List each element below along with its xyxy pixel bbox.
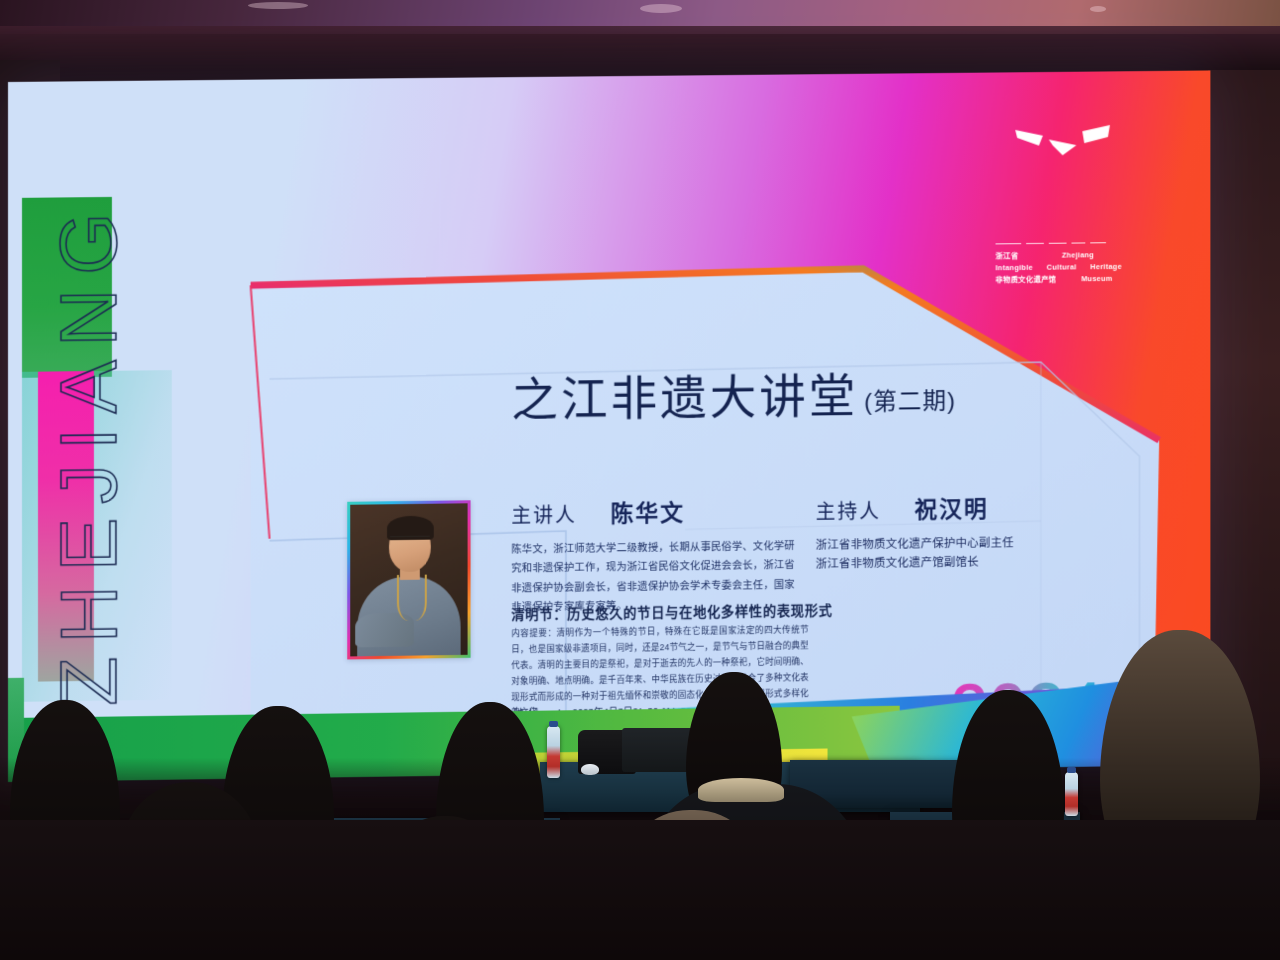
jacket-collar [698,778,784,802]
band-yellow [515,748,827,774]
logo-line1-cn: 浙江省 [996,250,1054,263]
speaker-portrait [347,500,470,659]
logo-intangible: Intangible [996,262,1041,274]
museum-logo: 浙江省 Zhejiang Intangible Cultural Heritag… [996,123,1130,286]
ceiling-light-2 [1090,6,1106,12]
jacket-graphic: Aioteius ACHIEVEN AND ROKATI EOPKIT AND … [640,840,870,886]
speaker-role-label: 主讲人 [511,499,577,529]
backpack-brand-text: CAMEL [149,923,181,930]
jacket-body [640,784,868,960]
host-name: 祝汉明 [915,490,989,525]
person-hair [122,782,258,892]
bag-strap-1 [0,870,45,960]
ceiling-light-3 [248,2,308,9]
host-title-2: 浙江省非物质文化遗产馆副馆长 [816,553,1014,574]
jacket-tiny-text: Berloghfhlekntebjkklsmq sne jc ni flqm h… [640,881,870,886]
lecture-topic: 清明节：历史悠久的节日与在地化多样性的表现形式 [511,599,832,623]
logo-heritage: Heritage [1090,261,1129,273]
vertical-zhejiang-text: ZHEJIANG [49,236,129,707]
speaker-info: 主讲人 陈华文 陈华文，浙江师范大学二级教授，长期从事民俗学、文化学研究和非遗保… [511,492,804,617]
audience-person-8 [870,840,1090,960]
person-hair [384,816,506,920]
backpack-body [72,856,322,960]
zhejiang-museum-logo-mark-icon [1013,123,1112,160]
wall-right [1208,70,1280,810]
audience-person-backpack: 🐫 CAMEL [80,782,330,960]
person-shoulders [1070,840,1280,960]
jacket-sub-line1: ACHIEVEN AND ROKATI [640,863,870,871]
backpack-logo: 🐫 CAMEL [40,910,290,930]
logo-line3-en: Museum [1081,273,1129,285]
logo-line1-en: Zhejiang [1062,249,1130,262]
audience-desk-row-2 [890,812,1080,838]
person-shoulders [0,850,168,960]
person-hair [910,840,1040,936]
speaker-heading: 主讲人 陈华文 [511,492,804,530]
bag-strap-2 [30,871,83,960]
water-bottle-right [1065,772,1078,816]
host-heading: 主持人 祝汉明 [816,490,1014,526]
jacket-script-text: Aioteius [640,840,870,860]
projection-screen: ZHEJIANG 浙江省 Zhejiang Intangible Cultu [8,70,1210,782]
audience-person-5 [330,816,560,960]
person-shoulders [188,856,378,960]
logo-rule-lines [996,242,1130,244]
logo-cultural: Cultural [1047,261,1085,273]
logo-line3-cn: 非物质文化遗产馆 [996,273,1074,286]
person-hair [622,810,762,922]
presentation-slide: ZHEJIANG 浙江省 Zhejiang Intangible Cultu [8,70,1210,782]
audience-desk-row-1 [330,818,560,844]
speaker-name: 陈华文 [611,494,685,529]
portrait-glasses [390,536,430,547]
person-shoulders [334,890,558,960]
person-shoulders [916,858,1108,960]
slide-title-main: 之江非遗大讲堂 [511,372,858,423]
jacket-sub-line2: EOPKIT AND NYSZ [640,871,870,879]
logo-wordmark-cn: 非物质文化遗产馆 Museum [996,273,1130,286]
lecture-hall-scene: ZHEJIANG 浙江省 Zhejiang Intangible Cultu [0,0,1280,960]
host-role-label: 主持人 [816,495,881,525]
slide-bottom-bands [8,662,1210,782]
host-info: 主持人 祝汉明 浙江省非物质文化遗产保护中心副主任 浙江省非物质文化遗产馆副馆长 [816,490,1014,575]
slide-title: 之江非遗大讲堂 (第二期) [511,371,956,423]
portrait-lanyard [397,575,427,621]
floor [0,820,1280,960]
band-left-edge [8,678,24,782]
speaker-portrait-image [350,503,467,656]
host-title-1: 浙江省非物质文化遗产保护中心副主任 [816,534,1014,555]
person-shoulders [570,896,814,960]
person-shoulders [398,860,590,960]
ceiling-light-1 [640,4,682,13]
band-blue [852,670,1211,770]
audience-person-6 [570,810,810,960]
slide-title-episode: (第二期) [864,390,956,419]
camel-icon: 🐫 [40,910,290,922]
bottle-cap [1067,767,1076,773]
